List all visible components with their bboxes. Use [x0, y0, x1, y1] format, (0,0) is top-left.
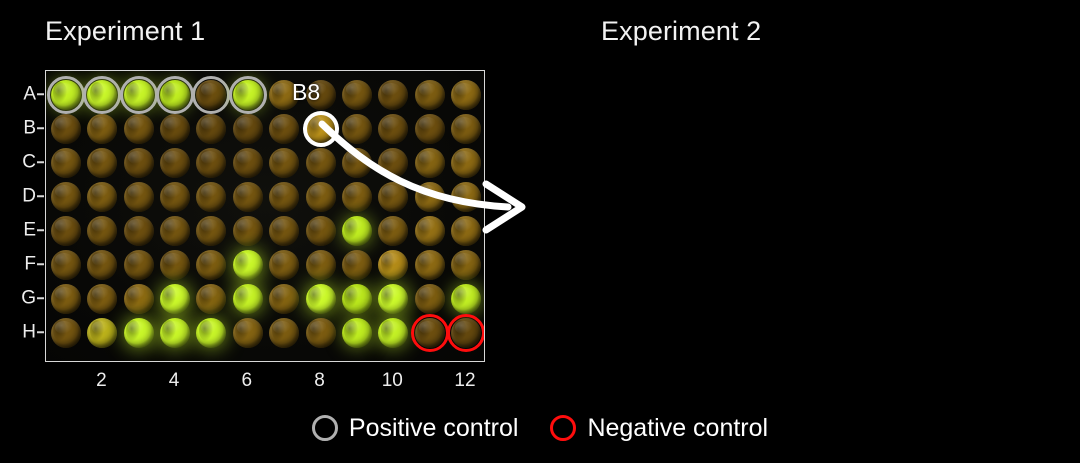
well-body — [160, 148, 190, 178]
col-label-2: 2 — [96, 371, 107, 390]
well-E4 — [160, 216, 190, 246]
row-label-A: A — [23, 85, 36, 104]
well-B7 — [269, 114, 299, 144]
well-D6 — [233, 182, 263, 212]
well-B6 — [233, 114, 263, 144]
row-label-E: E — [23, 221, 36, 240]
well-D5 — [196, 182, 226, 212]
well-body — [196, 114, 226, 144]
well-E5 — [196, 216, 226, 246]
well-D4 — [160, 182, 190, 212]
well-G10 — [378, 284, 408, 314]
well-G12 — [451, 284, 481, 314]
row-tick-D — [37, 195, 44, 197]
well-A10 — [378, 80, 408, 110]
row-label-G: G — [21, 289, 36, 308]
well-body — [269, 318, 299, 348]
well-G3 — [124, 284, 154, 314]
well-body — [196, 284, 226, 314]
well-body — [124, 216, 154, 246]
well-F4 — [160, 250, 190, 280]
well-body — [233, 216, 263, 246]
experiment-2-panel: Experiment 2 ABCDEFGH24681012 C10 (esmGF… — [555, 0, 1080, 400]
well-body — [196, 182, 226, 212]
well-F2 — [87, 250, 117, 280]
well-B5 — [196, 114, 226, 144]
well-body — [342, 318, 372, 348]
well-body — [51, 250, 81, 280]
well-F6 — [233, 250, 263, 280]
row-label-D: D — [22, 187, 36, 206]
well-body — [51, 182, 81, 212]
col-label-4: 4 — [169, 371, 180, 390]
well-B1 — [51, 114, 81, 144]
well-body — [233, 114, 263, 144]
well-F12 — [451, 250, 481, 280]
row-label-F: F — [24, 255, 36, 274]
well-E3 — [124, 216, 154, 246]
well-G1 — [51, 284, 81, 314]
well-A12 — [451, 80, 481, 110]
row-label-C: C — [22, 153, 36, 172]
well-F7 — [269, 250, 299, 280]
well-B4 — [160, 114, 190, 144]
red-circle-icon — [550, 415, 576, 441]
well-G7 — [269, 284, 299, 314]
well-body — [124, 250, 154, 280]
well-F3 — [124, 250, 154, 280]
well-annotation-b8: B8 — [292, 79, 320, 106]
well-body — [269, 114, 299, 144]
well-body — [342, 250, 372, 280]
well-body — [87, 182, 117, 212]
well-F10 — [378, 250, 408, 280]
well-D7 — [269, 182, 299, 212]
well-body — [87, 216, 117, 246]
well-F11 — [415, 250, 445, 280]
row-label-B: B — [23, 119, 36, 138]
well-body — [87, 284, 117, 314]
well-body — [51, 148, 81, 178]
experiment-1-panel: Experiment 1 ABCDEFGH24681012 B8 — [0, 0, 540, 400]
transition-arrow-icon — [300, 110, 550, 230]
well-body — [269, 148, 299, 178]
well-C7 — [269, 148, 299, 178]
well-H9 — [342, 318, 372, 348]
well-body — [415, 250, 445, 280]
well-D1 — [51, 182, 81, 212]
well-C2 — [87, 148, 117, 178]
well-G2 — [87, 284, 117, 314]
well-G6 — [233, 284, 263, 314]
well-body — [269, 250, 299, 280]
well-C3 — [124, 148, 154, 178]
well-H1 — [51, 318, 81, 348]
well-body — [196, 318, 226, 348]
well-body — [124, 182, 154, 212]
well-body — [196, 216, 226, 246]
well-body — [87, 148, 117, 178]
well-body — [269, 284, 299, 314]
well-body — [160, 114, 190, 144]
well-body — [160, 250, 190, 280]
positive-control-ring-A2 — [83, 76, 121, 114]
well-A11 — [415, 80, 445, 110]
well-body — [51, 318, 81, 348]
legend-item-negative: Negative control — [550, 415, 768, 441]
col-label-12: 12 — [454, 371, 475, 390]
legend-label-negative: Negative control — [587, 416, 768, 441]
well-body — [51, 114, 81, 144]
well-body — [306, 318, 336, 348]
well-body — [124, 114, 154, 144]
legend-item-positive: Positive control — [312, 415, 519, 441]
well-body — [160, 182, 190, 212]
well-B2 — [87, 114, 117, 144]
well-body — [160, 216, 190, 246]
well-body — [342, 284, 372, 314]
well-body — [233, 284, 263, 314]
well-body — [160, 318, 190, 348]
legend-label-positive: Positive control — [349, 416, 519, 441]
well-G11 — [415, 284, 445, 314]
well-G5 — [196, 284, 226, 314]
well-H7 — [269, 318, 299, 348]
well-body — [233, 148, 263, 178]
well-H6 — [233, 318, 263, 348]
row-tick-F — [37, 263, 44, 265]
well-H3 — [124, 318, 154, 348]
well-body — [124, 318, 154, 348]
well-G9 — [342, 284, 372, 314]
legend: Positive control Negative control — [0, 398, 1080, 458]
well-A9 — [342, 80, 372, 110]
well-E2 — [87, 216, 117, 246]
well-body — [269, 216, 299, 246]
well-body — [378, 80, 408, 110]
negative-control-ring-H11 — [411, 314, 449, 352]
well-body — [233, 318, 263, 348]
row-tick-G — [37, 297, 44, 299]
well-body — [196, 250, 226, 280]
well-body — [415, 284, 445, 314]
well-C1 — [51, 148, 81, 178]
well-body — [269, 182, 299, 212]
well-body — [378, 250, 408, 280]
row-tick-A — [37, 93, 44, 95]
col-label-8: 8 — [314, 371, 325, 390]
well-body — [378, 284, 408, 314]
row-tick-C — [37, 161, 44, 163]
well-body — [51, 284, 81, 314]
well-body — [415, 80, 445, 110]
well-H4 — [160, 318, 190, 348]
well-body — [51, 216, 81, 246]
well-H5 — [196, 318, 226, 348]
experiment-2-title: Experiment 2 — [601, 16, 761, 47]
positive-control-ring-A3 — [120, 76, 158, 114]
positive-control-ring-A6 — [229, 76, 267, 114]
well-E6 — [233, 216, 263, 246]
row-tick-E — [37, 229, 44, 231]
positive-control-ring-A5 — [192, 76, 230, 114]
negative-control-ring-H12 — [447, 314, 485, 352]
well-H8 — [306, 318, 336, 348]
well-body — [306, 250, 336, 280]
well-D3 — [124, 182, 154, 212]
well-E1 — [51, 216, 81, 246]
well-body — [124, 284, 154, 314]
row-label-H: H — [22, 323, 36, 342]
well-C4 — [160, 148, 190, 178]
well-G4 — [160, 284, 190, 314]
row-tick-B — [37, 127, 44, 129]
well-B3 — [124, 114, 154, 144]
well-F5 — [196, 250, 226, 280]
col-label-6: 6 — [242, 371, 253, 390]
well-E7 — [269, 216, 299, 246]
well-F9 — [342, 250, 372, 280]
well-F1 — [51, 250, 81, 280]
well-body — [160, 284, 190, 314]
well-body — [87, 114, 117, 144]
well-H2 — [87, 318, 117, 348]
well-body — [233, 250, 263, 280]
col-label-10: 10 — [382, 371, 403, 390]
well-G8 — [306, 284, 336, 314]
well-body — [342, 80, 372, 110]
well-body — [196, 148, 226, 178]
well-body — [451, 80, 481, 110]
well-body — [87, 318, 117, 348]
well-body — [378, 318, 408, 348]
well-C6 — [233, 148, 263, 178]
well-H10 — [378, 318, 408, 348]
well-body — [451, 284, 481, 314]
well-body — [124, 148, 154, 178]
positive-control-ring-A4 — [156, 76, 194, 114]
well-body — [451, 250, 481, 280]
experiment-1-title: Experiment 1 — [45, 16, 205, 47]
well-F8 — [306, 250, 336, 280]
row-tick-H — [37, 331, 44, 333]
well-body — [233, 182, 263, 212]
well-C5 — [196, 148, 226, 178]
gray-circle-icon — [312, 415, 338, 441]
well-body — [87, 250, 117, 280]
well-D2 — [87, 182, 117, 212]
well-body — [306, 284, 336, 314]
positive-control-ring-A1 — [47, 76, 85, 114]
